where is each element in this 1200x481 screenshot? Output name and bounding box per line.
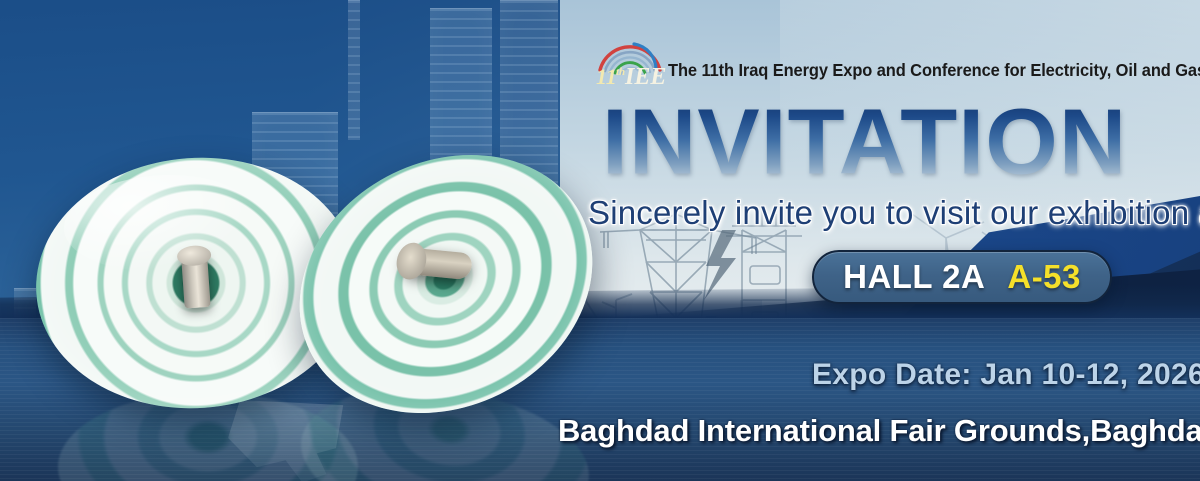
logo-wordmark: 11 th	[596, 64, 625, 88]
expo-date-text: Expo Date: Jan 10-12, 2026	[812, 358, 1200, 392]
logo-edition: 11	[596, 64, 617, 88]
hall-label: HALL 2A	[843, 258, 985, 296]
booth-label: A-53	[1007, 258, 1081, 296]
logo-ordinal: th	[616, 66, 625, 78]
event-title: The 11th Iraq Energy Expo and Conference…	[668, 60, 1200, 81]
logo-acronym: IEE	[624, 64, 666, 88]
hall-booth-badge[interactable]: HALL 2A A-53	[812, 250, 1112, 304]
iiee-logo: 11 th IEE	[594, 30, 666, 88]
invitation-banner: 11 th IEE The 11th Iraq Energy Expo and …	[0, 0, 1200, 481]
venue-text: Baghdad International Fair Grounds,Baghd…	[558, 413, 1200, 449]
subhead-text: Sincerely invite you to visit our exhibi…	[588, 194, 1200, 232]
banner-content: 11 th IEE The 11th Iraq Energy Expo and …	[0, 0, 1200, 481]
headline-invitation: INVITATION	[602, 96, 1127, 188]
